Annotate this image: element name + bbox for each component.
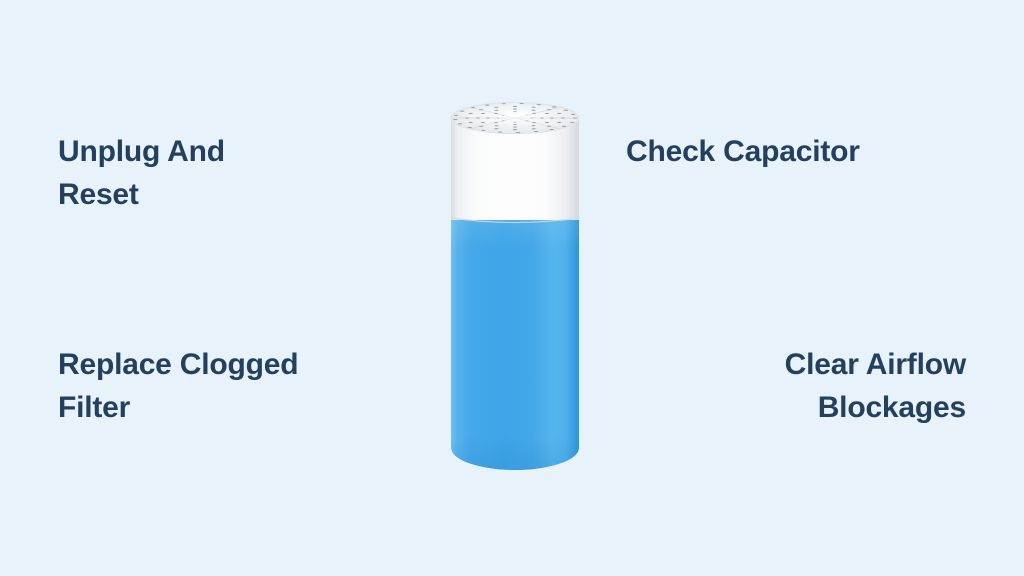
grille-top-icon xyxy=(451,103,579,134)
purifier-body xyxy=(449,218,581,472)
callout-unplug-and-reset: Unplug And Reset xyxy=(58,131,388,216)
callout-clear-airflow-blockages: Clear Airflow Blockages xyxy=(636,344,966,429)
callout-check-capacitor: Check Capacitor xyxy=(626,131,966,174)
air-purifier-image xyxy=(449,100,581,472)
callout-replace-clogged-filter: Replace Clogged Filter xyxy=(58,344,418,429)
illustration-canvas: Unplug And Reset Check Capacitor Replace… xyxy=(0,0,1024,576)
